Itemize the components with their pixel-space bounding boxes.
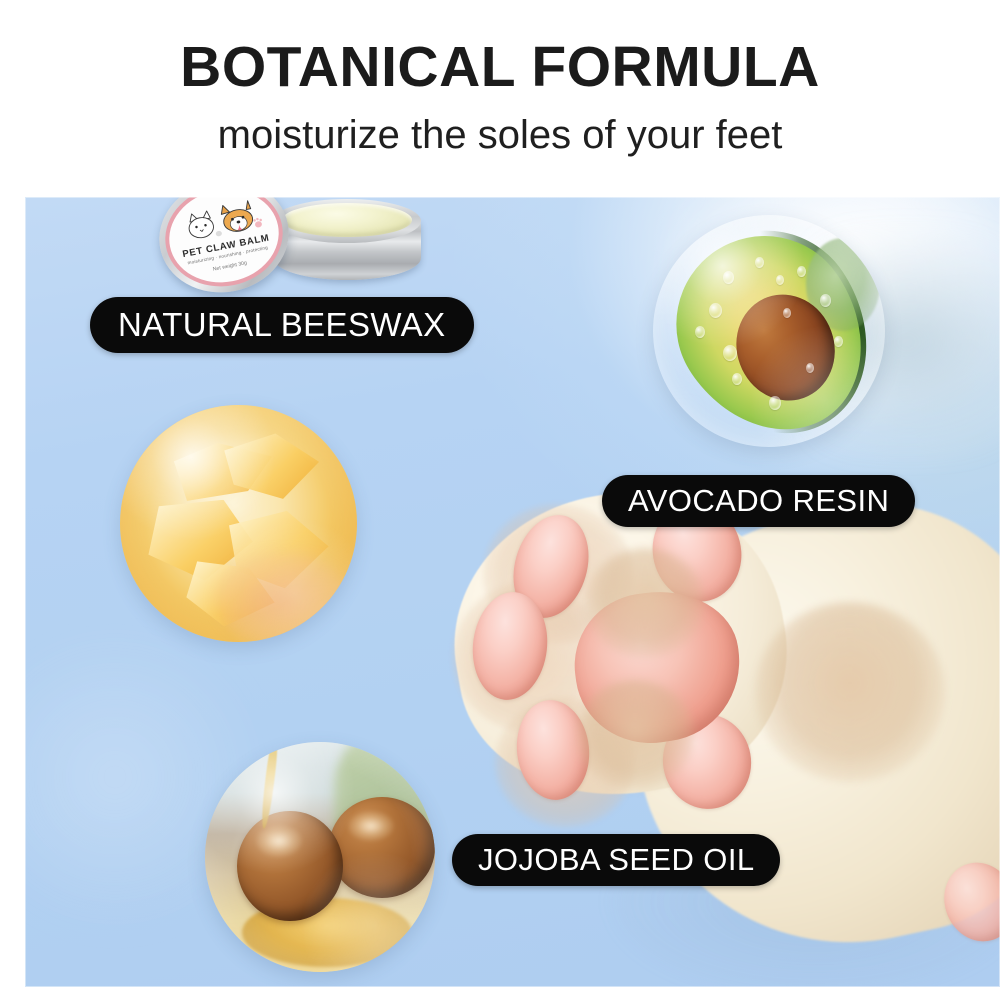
ingredient-label-jojoba: JOJOBA SEED OIL — [452, 834, 780, 886]
product-photo: PET CLAW BALM moisturizing · nourishing … — [25, 197, 1000, 987]
water-droplet — [695, 326, 705, 338]
header: BOTANICAL FORMULA moisturize the soles o… — [0, 0, 1000, 197]
ingredient-label-avocado: AVOCADO RESIN — [602, 475, 915, 527]
seed-highlight — [256, 825, 302, 857]
water-droplet — [723, 271, 734, 284]
fur-tuft-3 — [755, 602, 945, 782]
beeswax-scene — [120, 405, 357, 642]
ingredient-label-beeswax: NATURAL BEESWAX — [90, 297, 474, 353]
ingredient-label-text: JOJOBA SEED OIL — [478, 842, 754, 878]
water-droplet — [723, 345, 737, 361]
jojoba-scene — [205, 742, 435, 972]
water-droplet — [755, 257, 764, 268]
page-title: BOTANICAL FORMULA — [0, 38, 1000, 98]
tin-lid: PET CLAW BALM moisturizing · nourishing … — [150, 197, 299, 303]
water-droplet — [769, 396, 781, 410]
avocado-bubble — [653, 215, 885, 447]
fur-tuft-1 — [585, 548, 705, 658]
jojoba-bubble — [205, 742, 435, 972]
fur-tuft-2 — [575, 680, 695, 790]
water-droplet — [732, 373, 742, 385]
product-infographic: BOTANICAL FORMULA moisturize the soles o… — [0, 0, 1000, 1000]
water-droplet — [709, 303, 722, 318]
beeswax-warm-glow — [215, 552, 348, 642]
avocado-scene — [653, 215, 885, 447]
tin-lid-label: PET CLAW BALM moisturizing · nourishing … — [157, 197, 292, 296]
water-droplet — [797, 266, 806, 277]
water-droplet — [820, 294, 831, 307]
water-droplet — [783, 308, 791, 318]
ingredient-label-text: AVOCADO RESIN — [628, 483, 889, 519]
cat-paw — [425, 452, 1000, 987]
beeswax-bubble — [120, 405, 357, 642]
ingredient-label-text: NATURAL BEESWAX — [118, 306, 446, 344]
product-tin: PET CLAW BALM moisturizing · nourishing … — [145, 197, 420, 292]
water-droplet — [834, 336, 843, 347]
page-subtitle: moisturize the soles of your feet — [0, 113, 1000, 157]
seed-highlight — [348, 811, 394, 841]
balm-surface — [282, 203, 412, 237]
